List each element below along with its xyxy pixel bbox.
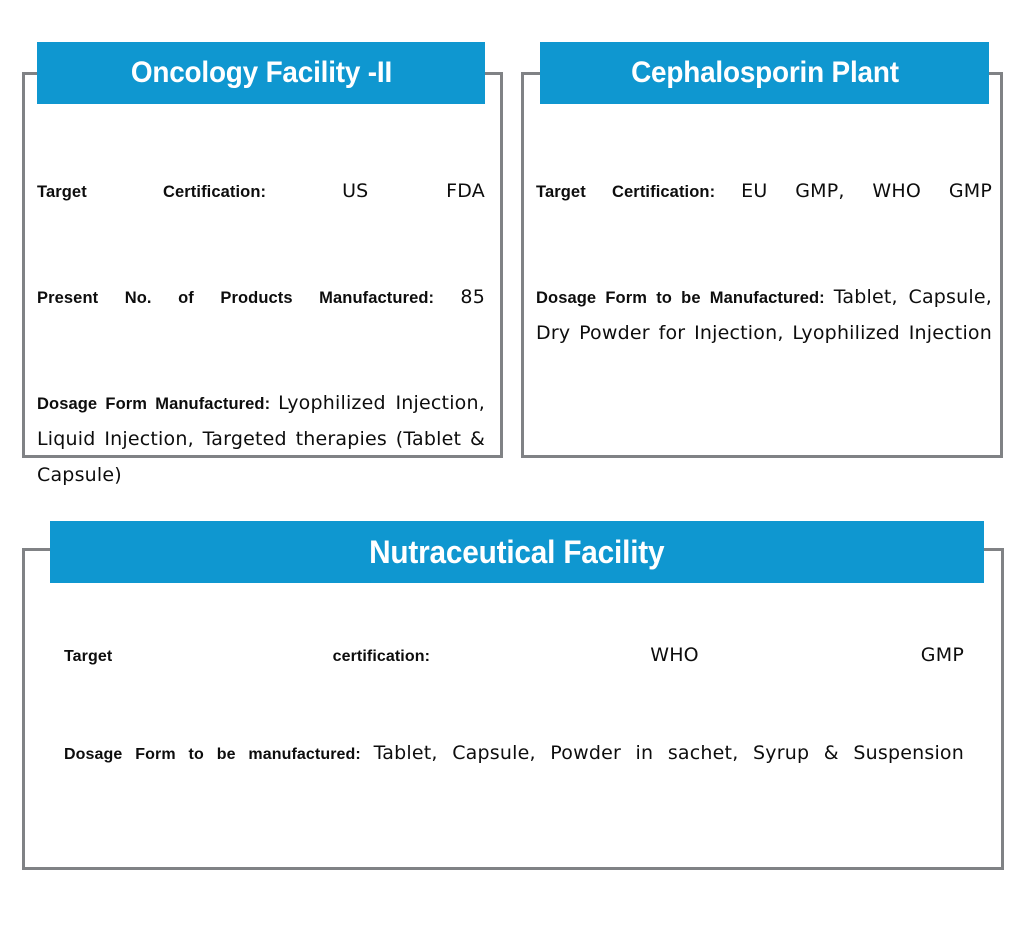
detail-label: Target certification: <box>64 648 430 665</box>
card-title: Cephalosporin Plant <box>631 58 899 88</box>
detail-row: Dosage Form to be Manufactured: Tablet, … <box>536 280 992 386</box>
detail-value: Tablet, Capsule, Powder in sachet, Syrup… <box>374 742 964 764</box>
card-body-oncology: Target Certification: US FDA Present No.… <box>37 158 485 544</box>
detail-value: 85 <box>460 286 485 308</box>
detail-label: Dosage Form to be manufactured: <box>64 746 361 763</box>
detail-row: Target Certification: US FDA <box>37 174 485 244</box>
detail-row: Dosage Form to be manufactured: Tablet, … <box>64 736 964 806</box>
detail-row: Dosage Form Manufactured: Lyophilized In… <box>37 386 485 528</box>
card-header-cephalosporin: Cephalosporin Plant <box>540 42 989 104</box>
card-body-cephalosporin: Target Certification: EU GMP, WHO GMP Do… <box>536 158 992 402</box>
detail-label: Target Certification: <box>37 183 266 201</box>
detail-label: Dosage Form Manufactured: <box>37 395 270 413</box>
detail-label: Target Certification: <box>536 183 715 201</box>
detail-value: US FDA <box>342 180 485 202</box>
detail-label: Dosage Form to be Manufactured: <box>536 289 825 307</box>
detail-value: WHO GMP <box>650 644 964 666</box>
detail-value: EU GMP, WHO GMP <box>741 180 992 202</box>
card-title: Oncology Facility -II <box>130 58 391 88</box>
detail-row: Target Certification: EU GMP, WHO GMP <box>536 174 992 244</box>
detail-row: Present No. of Products Manufactured: 85 <box>37 280 485 350</box>
detail-label: Present No. of Products Manufactured: <box>37 289 434 307</box>
detail-row: Target certification: WHO GMP <box>64 638 964 708</box>
card-header-oncology: Oncology Facility -II <box>37 42 485 104</box>
card-body-nutraceutical: Target certification: WHO GMP Dosage For… <box>64 622 964 822</box>
